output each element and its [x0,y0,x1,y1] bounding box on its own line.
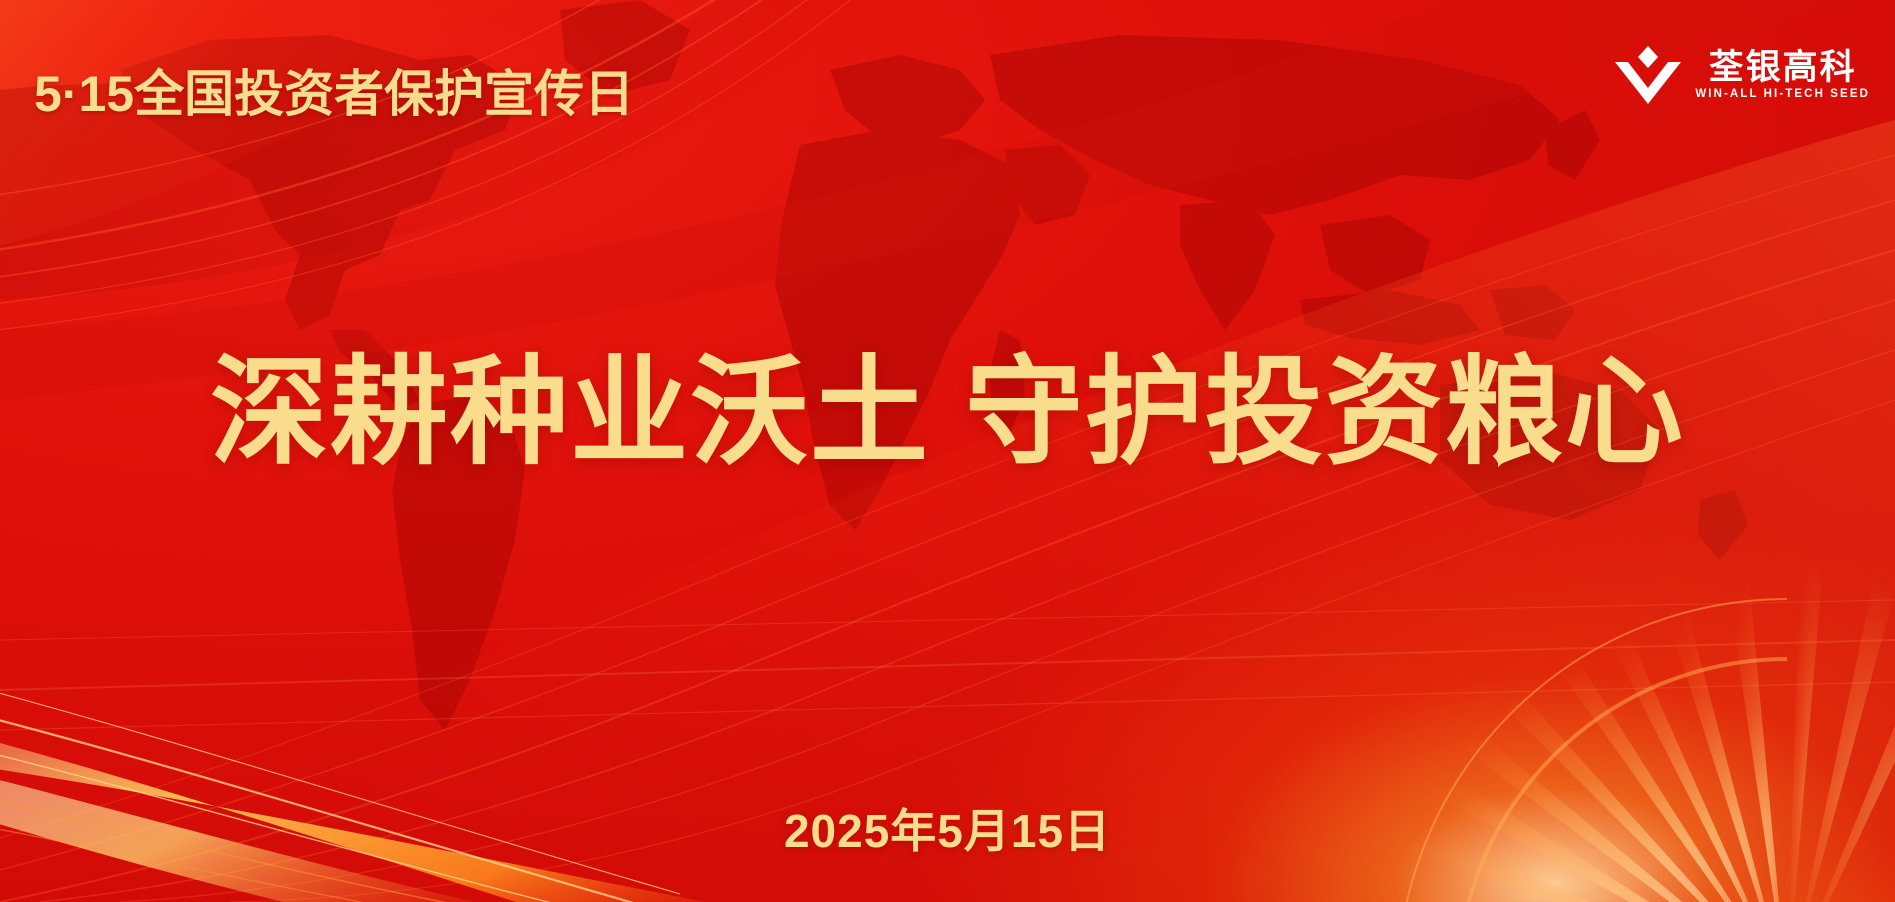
logo-name-cn: 荃银高科 [1709,50,1857,87]
company-logo: 荃银高科 WIN-ALL HI-TECH SEED [1615,46,1870,104]
event-date: 2025年5月15日 [0,795,1895,861]
campaign-eyebrow-text: 5·15全国投资者保护宣传日 [34,54,634,126]
logo-name-en: WIN-ALL HI-TECH SEED [1695,88,1870,100]
chevron-v-mark-icon [1615,46,1681,104]
poster-canvas: 5·15全国投资者保护宣传日 荃银高科 WIN-ALL HI-TECH SEED… [0,0,1895,902]
poster-content: 5·15全国投资者保护宣传日 荃银高科 WIN-ALL HI-TECH SEED… [0,0,1895,902]
logo-wordmark: 荃银高科 WIN-ALL HI-TECH SEED [1695,50,1870,101]
poster-headline: 深耕种业沃土 守护投资粮心 [0,350,1895,477]
